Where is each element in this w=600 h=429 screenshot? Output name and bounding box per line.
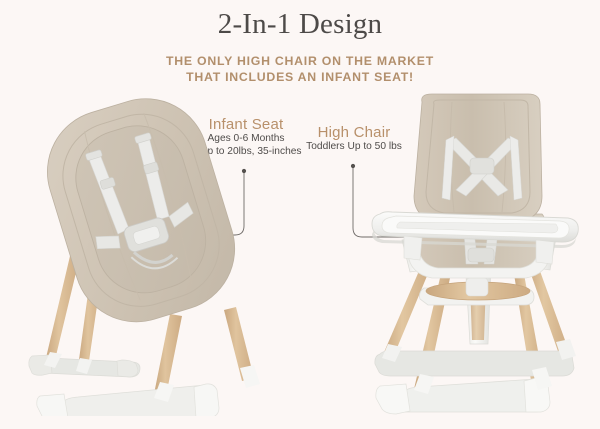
high-chair-front-foot-cap-left [376, 384, 410, 414]
product-image-high-chair [366, 92, 596, 417]
infographic-canvas: 2-In-1 Design The only high chair on the… [0, 0, 600, 429]
high-chair-tray-mount-left [404, 236, 422, 260]
product-image-infant-seat [18, 96, 268, 416]
infant-seat-front-base [37, 384, 219, 416]
page-title: 2-In-1 Design [0, 8, 600, 41]
leader-dot-high-chair [351, 164, 355, 168]
page-subtitle: The only high chair on the market that i… [0, 54, 600, 85]
infant-seat-leg-tip-d [240, 365, 260, 388]
page-subtitle-line-2: that includes an infant seat! [0, 70, 600, 86]
high-chair-tray-mount-right [536, 240, 554, 264]
infant-seat-illustration [18, 96, 268, 416]
high-chair-illustration [366, 92, 596, 417]
page-subtitle-line-1: The only high chair on the market [0, 54, 600, 70]
